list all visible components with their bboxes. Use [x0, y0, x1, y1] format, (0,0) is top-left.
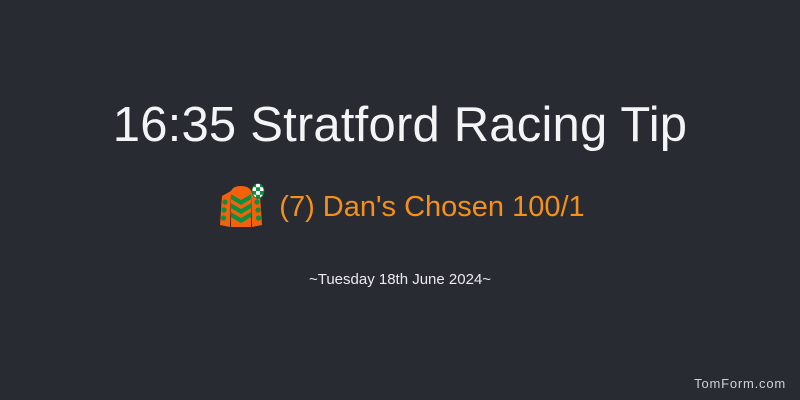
selection-label: (7) Dan's Chosen 100/1 — [279, 190, 584, 224]
jockey-silks-icon — [215, 181, 267, 233]
page-title: 16:35 Stratford Racing Tip — [0, 96, 800, 154]
race-date: ~Tuesday 18th June 2024~ — [0, 270, 800, 290]
racing-tip-card: 16:35 Stratford Racing Tip — [0, 0, 800, 400]
site-watermark: TomForm.com — [694, 376, 786, 392]
selection-row: (7) Dan's Chosen 100/1 — [0, 181, 800, 233]
